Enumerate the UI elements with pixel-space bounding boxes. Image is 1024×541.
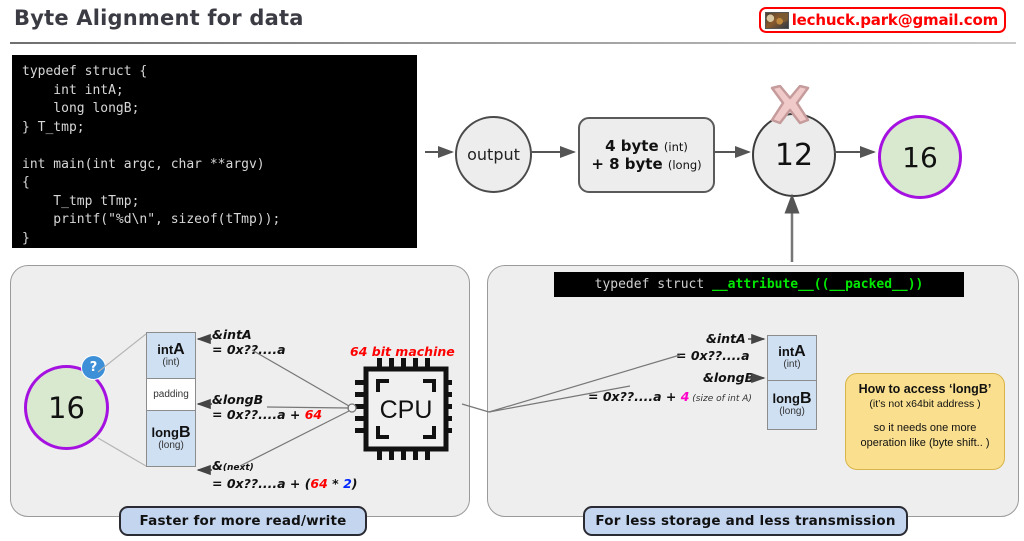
packed-cell-longB: longB (long): [768, 381, 816, 429]
question-badge-label: ?: [90, 360, 98, 375]
left-panel-banner-label: Faster for more read/write: [140, 513, 347, 529]
memory-cell-padding: padding: [147, 379, 195, 411]
addr-longB-right-title: &longB: [703, 370, 754, 385]
memory-cell-intA: intA (int): [147, 333, 195, 379]
cpu-icon: CPU: [355, 358, 459, 460]
addr-longB-left: &longB = 0x??....a + 64: [212, 392, 322, 422]
left-panel-banner: Faster for more read/write: [119, 506, 367, 536]
memory-layout-aligned: intA (int) padding longB (long): [146, 332, 196, 467]
right-panel-banner-label: For less storage and less transmission: [595, 513, 895, 529]
flow-node-correct-size: 16: [878, 115, 962, 199]
flow-node-byte-sum: 4 byte (int) + 8 byte (long): [578, 117, 715, 193]
byte-sum-line-1: 4 byte (int): [605, 137, 688, 155]
packed-cell-longB-type: (long): [779, 406, 805, 418]
addr-longB-right-value: = 0x??....a + 4 (size of int A): [588, 389, 752, 407]
note-line-1: How to access ‘longB’: [859, 381, 992, 397]
note-line-2: (it’s not x64bit address ): [869, 397, 980, 411]
packed-code-dim: typedef struct: [595, 277, 712, 292]
packed-cell-intA-type: (int): [783, 359, 800, 371]
addr-intA-left-value: = 0x??....a: [212, 342, 286, 357]
x-cross-icon: [767, 85, 813, 125]
byte-sum-long-value: + 8 byte: [591, 155, 662, 173]
memory-cell-intA-type: (int): [162, 357, 179, 369]
machine-label: 64 bit machine: [350, 344, 455, 359]
source-code-block: typedef struct { int intA; long longB; }…: [12, 55, 417, 248]
correct-size-label: 16: [902, 141, 938, 174]
byte-sum-int-value: 4 byte: [605, 137, 659, 155]
byte-sum-long-type: (long): [668, 158, 702, 172]
memory-cell-longB: longB (long): [147, 411, 195, 466]
addr-intA-right-title: &intA: [706, 331, 746, 346]
access-longB-note: How to access ‘longB’ (it’s not x64bit a…: [845, 373, 1005, 470]
addr-intA-left: &intA = 0x??....a: [212, 327, 286, 357]
addr-longB-left-value: = 0x??....a + 64: [212, 407, 322, 422]
photo-thumbnail-icon: [765, 12, 789, 29]
email-badge[interactable]: lechuck.park@gmail.com: [759, 7, 1006, 33]
byte-sum-line-2: + 8 byte (long): [591, 155, 701, 173]
addr-next-left-title: &(next): [212, 458, 358, 476]
email-address-label: lechuck.park@gmail.com: [792, 11, 998, 29]
packed-cell-longB-name: longB: [773, 392, 812, 406]
slide-root: Byte Alignment for data lechuck.park@gma…: [0, 0, 1024, 541]
wrong-size-label: 12: [775, 138, 813, 173]
addr-longB-left-title: &longB: [212, 392, 322, 407]
byte-sum-int-type: (int): [664, 140, 688, 154]
packed-cell-intA: intA (int): [768, 336, 816, 381]
title-divider: [10, 42, 1016, 44]
note-line-4: operation like (byte shift.. ): [860, 436, 989, 451]
flow-node-output-label: output: [467, 145, 520, 164]
memory-layout-packed: intA (int) longB (long): [767, 335, 817, 430]
cpu-label: CPU: [380, 396, 433, 424]
right-panel-banner: For less storage and less transmission: [583, 506, 908, 536]
addr-intA-right-value: = 0x??....a: [676, 348, 750, 363]
addr-next-left: &(next) = 0x??....a + (64 * 2): [212, 458, 358, 491]
note-line-3: so it needs one more: [874, 421, 977, 436]
memory-cell-longB-name: longB: [152, 426, 191, 440]
page-title: Byte Alignment for data: [14, 6, 304, 30]
memory-cell-padding-label: padding: [153, 389, 189, 400]
flow-node-wrong-size: 12: [752, 113, 836, 197]
packed-code-green: __attribute__((__packed__)): [712, 277, 923, 292]
memory-cell-intA-name: intA: [157, 343, 184, 357]
packed-attribute-code: typedef struct __attribute__((__packed__…: [554, 272, 964, 297]
memory-cell-longB-type: (long): [158, 440, 184, 452]
left-panel-size-label: 16: [48, 391, 85, 425]
addr-intA-left-title: &intA: [212, 327, 286, 342]
addr-next-left-value: = 0x??....a + (64 * 2): [212, 476, 358, 491]
question-badge-icon[interactable]: ?: [81, 355, 106, 380]
packed-cell-intA-name: intA: [778, 345, 805, 359]
flow-node-output: output: [455, 116, 532, 193]
addr-intA-right-title-wrap: &intA: [706, 331, 746, 346]
